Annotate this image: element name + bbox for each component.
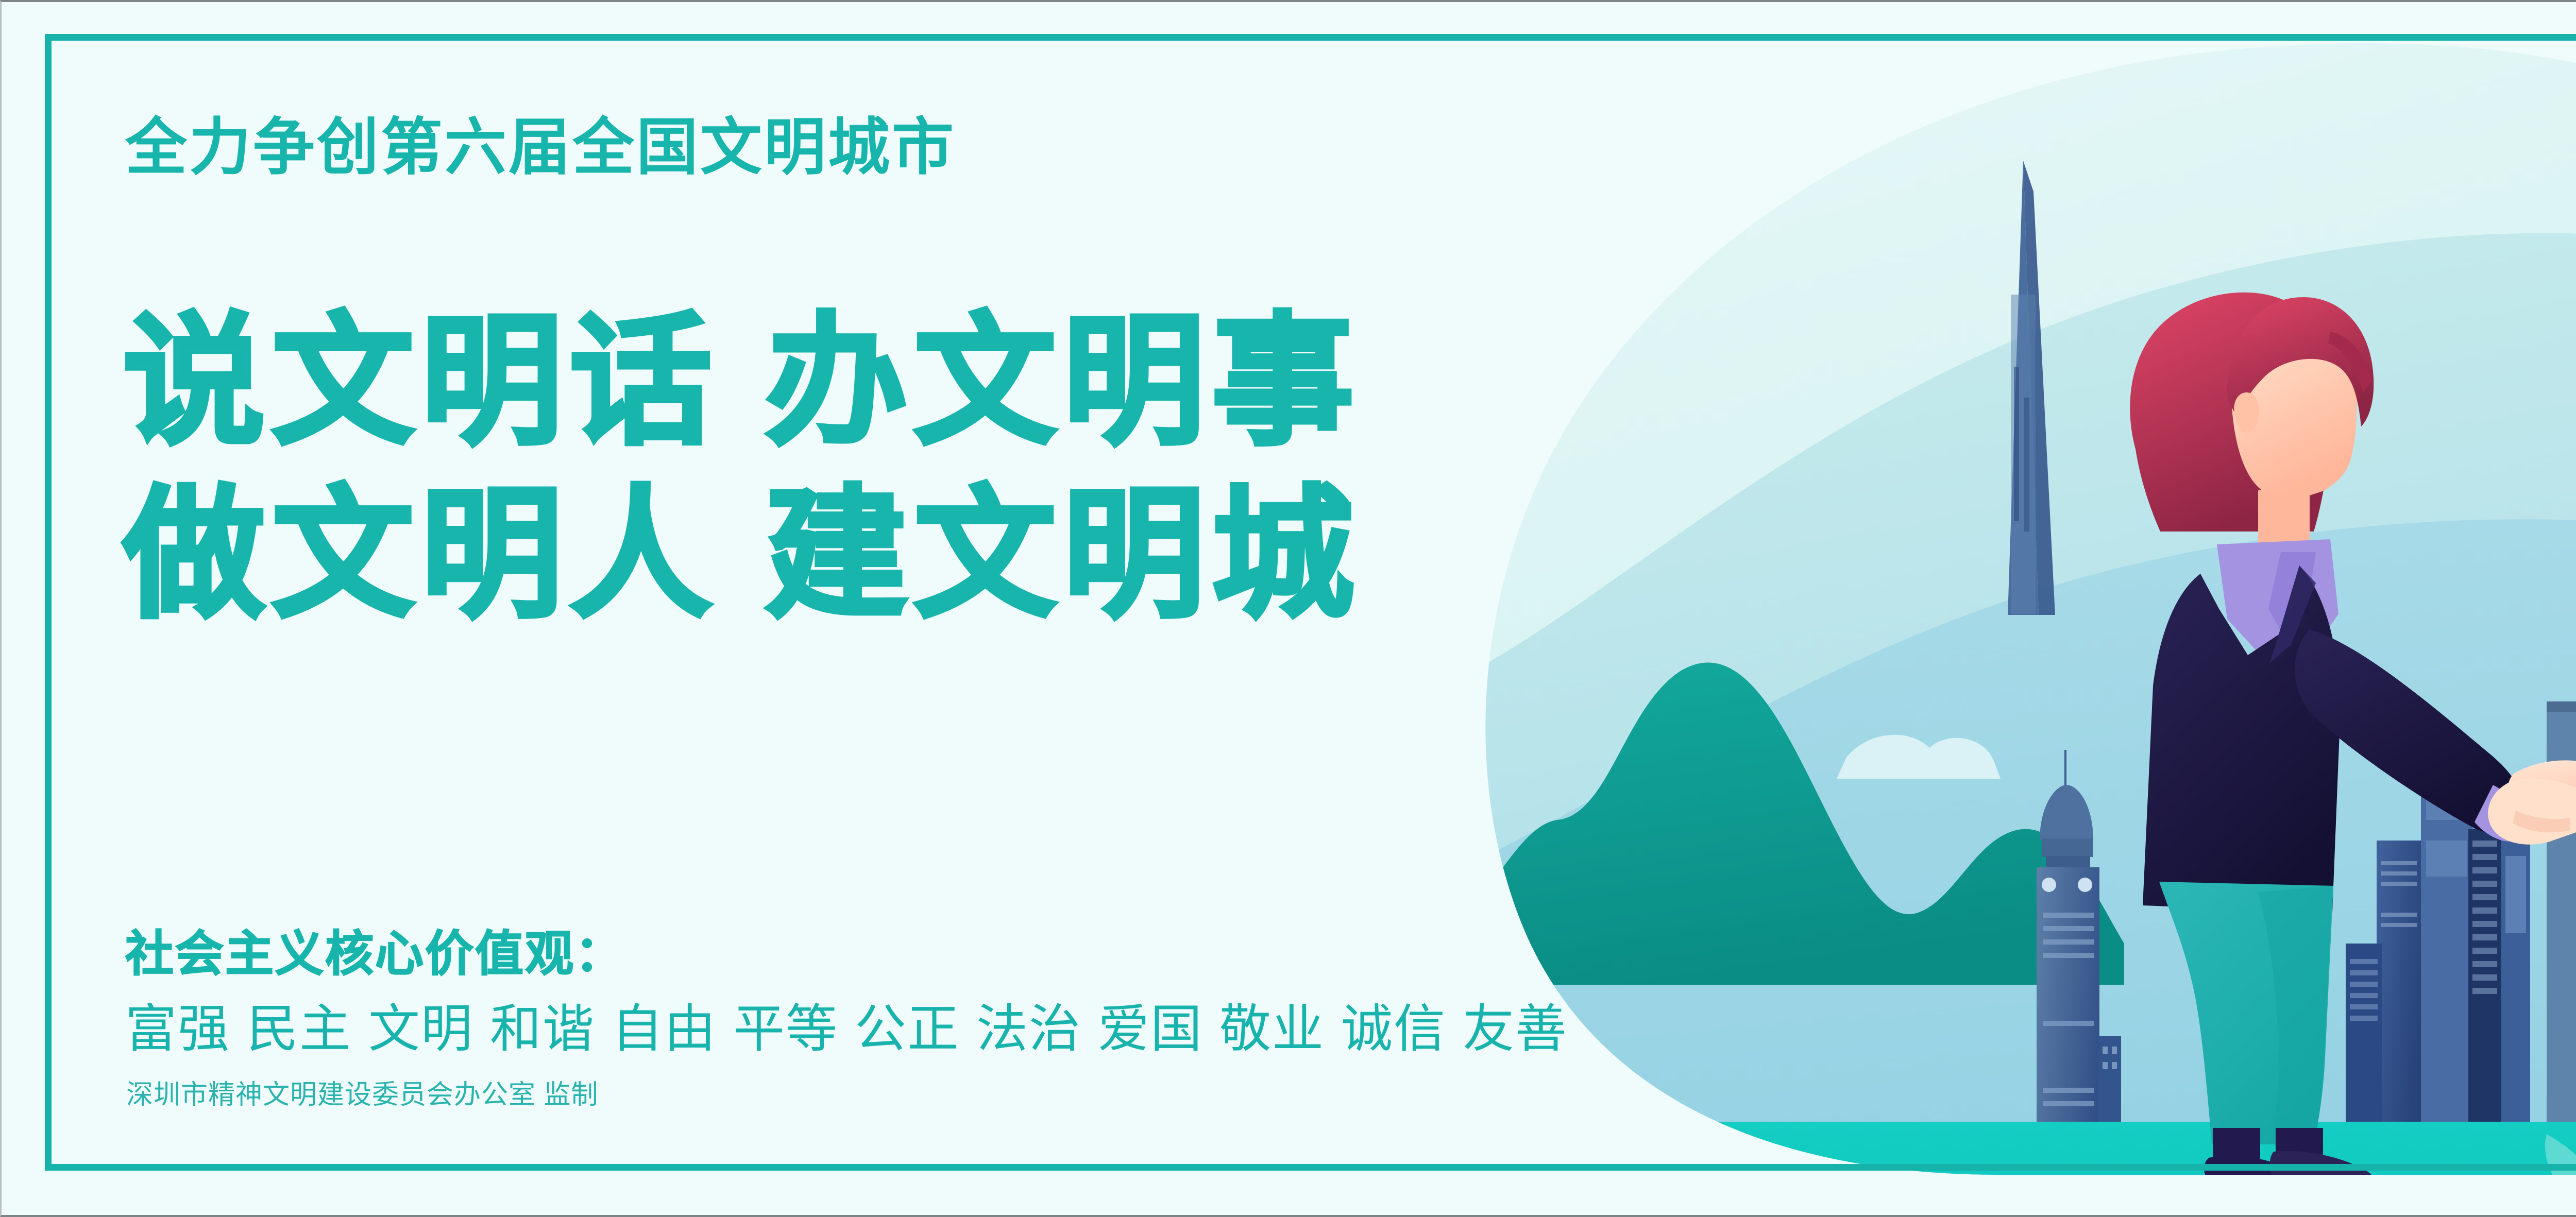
core-value-item: 自由 <box>612 1000 717 1058</box>
hand-woman <box>2488 779 2576 845</box>
core-value-item: 友善 <box>1463 1000 1568 1058</box>
building-small-a <box>2098 1036 2121 1129</box>
core-value-item: 平等 <box>733 1000 838 1058</box>
core-value-item: 民主 <box>247 1000 352 1058</box>
headline-line-2: 做文明人 建文明城 <box>123 469 1361 642</box>
core-value-item: 敬业 <box>1219 1000 1325 1058</box>
poster-root: 全力争创第六届全国文明城市 说文明话 办文明事 做文明人 建文明城 社会主义核心… <box>0 0 2576 1217</box>
core-value-item: 诚信 <box>1341 1000 1446 1058</box>
core-value-item: 法治 <box>976 1000 1081 1058</box>
woman-ankle-right <box>2276 1128 2323 1155</box>
core-value-item: 文明 <box>368 1000 473 1058</box>
headline-line-1: 说文明话 办文明事 <box>123 296 1361 469</box>
woman-ankle-left <box>2213 1128 2260 1160</box>
core-value-item: 公正 <box>855 1000 960 1058</box>
core-value-item: 富强 <box>125 1000 230 1058</box>
core-value-item: 和谐 <box>490 1000 595 1058</box>
core-values-list: 富强民主文明和谐自由平等公正法治爱国敬业诚信友善 <box>125 987 1568 1061</box>
issuer-footer-note: 深圳市精神文明建设委员会办公室 监制 <box>126 1073 598 1111</box>
core-value-item: 爱国 <box>1098 1000 1203 1058</box>
main-headline: 说文明话 办文明事 做文明人 建文明城 <box>123 296 1361 641</box>
kicker-slogan: 全力争创第六届全国文明城市 <box>125 116 956 178</box>
text-column: 全力争创第六届全国文明城市 说文明话 办文明事 做文明人 建文明城 社会主义核心… <box>2 2 1676 1215</box>
core-values-title: 社会主义核心价值观： <box>125 915 625 985</box>
building-cluster-right <box>2547 681 2576 1129</box>
